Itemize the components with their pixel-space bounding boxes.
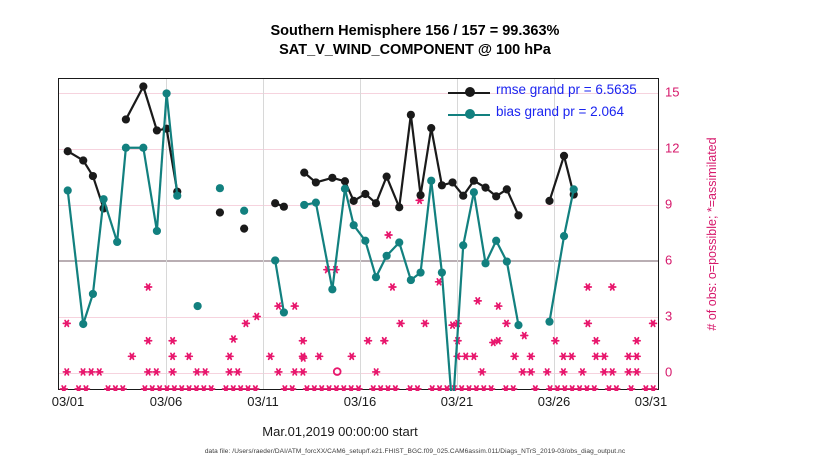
obs-assimilated-marker bbox=[291, 369, 298, 375]
obs-assimilated-marker bbox=[527, 353, 534, 359]
obs-assimilated-marker bbox=[569, 386, 576, 391]
obs-assimilated-marker bbox=[348, 353, 355, 359]
legend-item-rmse[interactable]: rmse grand pr = 6.5635 bbox=[448, 82, 653, 104]
obs-assimilated-marker bbox=[422, 320, 429, 326]
obs-assimilated-marker bbox=[202, 369, 209, 375]
obs-assimilated-marker bbox=[252, 386, 259, 391]
obs-assimilated-marker bbox=[178, 386, 185, 391]
obs-assimilated-marker bbox=[625, 353, 632, 359]
obs-assimilated-marker bbox=[186, 386, 193, 391]
obs-assimilated-marker bbox=[576, 386, 583, 391]
obs-assimilated-marker bbox=[521, 333, 528, 339]
obs-assimilated-marker bbox=[145, 338, 152, 344]
page-title: Southern Hemisphere 156 / 157 = 99.363% … bbox=[0, 22, 830, 60]
obs-assimilated-marker bbox=[348, 386, 355, 391]
obs-assimilated-marker bbox=[169, 338, 176, 344]
legend-label-bias: bias grand pr = 2.064 bbox=[496, 104, 624, 119]
obs-assimilated-marker bbox=[444, 386, 451, 391]
obs-assimilated-marker bbox=[316, 353, 323, 359]
obs-assimilated-marker bbox=[560, 353, 567, 359]
legend-marker-rmse bbox=[465, 87, 475, 97]
obs-assimilated-marker bbox=[609, 369, 616, 375]
x-tick-0311: 03/11 bbox=[247, 394, 279, 409]
obs-assimilated-marker bbox=[153, 369, 160, 375]
obs-assimilated-marker bbox=[281, 386, 288, 391]
obs-assimilated-marker bbox=[60, 386, 67, 391]
obs-assimilated-marker bbox=[128, 353, 135, 359]
legend-marker-bias bbox=[465, 109, 475, 119]
obs-assimilated-marker bbox=[223, 386, 230, 391]
series-bias bbox=[64, 89, 578, 391]
obs-assimilated-marker bbox=[613, 386, 620, 391]
x-tick-0331: 03/31 bbox=[635, 394, 668, 409]
obs-assimilated-marker bbox=[473, 386, 480, 391]
obs-assimilated-marker bbox=[436, 386, 443, 391]
obs-assimilated-marker bbox=[429, 386, 436, 391]
obs-assimilated-marker bbox=[275, 303, 282, 309]
obs-assimilated-marker bbox=[299, 338, 306, 344]
obs-assimilated-marker bbox=[145, 369, 152, 375]
obs-assimilated-marker bbox=[650, 386, 657, 391]
obs-assimilated-marker bbox=[579, 369, 586, 375]
obs-assimilated-marker bbox=[527, 369, 534, 375]
y-tick-right-15: 15 bbox=[665, 85, 679, 100]
obs-assimilated-marker bbox=[633, 369, 640, 375]
obs-assimilated-marker bbox=[466, 386, 473, 391]
obs-assimilated-marker bbox=[304, 386, 311, 391]
obs-assimilated-marker bbox=[80, 369, 87, 375]
title-line-1: Southern Hemisphere 156 / 157 = 99.363% bbox=[271, 23, 560, 39]
obs-assimilated-marker bbox=[63, 320, 70, 326]
obs-assimilated-marker bbox=[193, 386, 200, 391]
obs-assimilated-marker bbox=[234, 369, 241, 375]
legend-label-rmse: rmse grand pr = 6.5635 bbox=[496, 82, 637, 97]
obs-assimilated-marker bbox=[75, 386, 82, 391]
obs-assimilated-marker bbox=[200, 386, 207, 391]
obs-assimilated-marker bbox=[164, 386, 171, 391]
obs-assimilated-marker bbox=[480, 386, 487, 391]
obs-assimilated-marker bbox=[584, 386, 591, 391]
obs-assimilated-marker bbox=[547, 386, 554, 391]
obs-assimilated-marker bbox=[633, 338, 640, 344]
obs-assimilated-marker bbox=[479, 369, 486, 375]
obs-assimilated-marker bbox=[519, 369, 526, 375]
obs-assimilated-marker bbox=[407, 386, 414, 391]
x-tick-0321: 03/21 bbox=[441, 394, 474, 409]
obs-assimilated-marker bbox=[185, 353, 192, 359]
obs-assimilated-marker bbox=[633, 353, 640, 359]
obs-assimilated-marker bbox=[414, 386, 421, 391]
y-tick-right-9: 9 bbox=[665, 197, 672, 212]
obs-assimilated-marker bbox=[385, 386, 392, 391]
obs-assimilated-marker bbox=[291, 303, 298, 309]
obs-assimilated-marker bbox=[318, 386, 325, 391]
obs-assimilated-marker bbox=[194, 369, 201, 375]
obs-assimilated-marker bbox=[560, 369, 567, 375]
obs-assimilated-marker bbox=[105, 386, 112, 391]
obs-assimilated-marker bbox=[245, 386, 252, 391]
obs-assimilated-marker bbox=[83, 386, 90, 391]
obs-assimilated-marker bbox=[385, 232, 392, 238]
obs-assimilated-marker bbox=[242, 320, 249, 326]
y-tick-right-6: 6 bbox=[665, 253, 672, 268]
obs-assimilated-marker bbox=[299, 369, 306, 375]
obs-assimilated-marker bbox=[544, 369, 551, 375]
y-tick-right-0: 0 bbox=[665, 365, 672, 380]
obs-assimilated-marker bbox=[226, 369, 233, 375]
y-tick-right-12: 12 bbox=[665, 141, 679, 156]
obs-assimilated-marker bbox=[88, 369, 95, 375]
obs-assimilated-marker bbox=[650, 320, 657, 326]
obs-assimilated-marker bbox=[119, 386, 126, 391]
obs-assimilated-marker bbox=[552, 338, 559, 344]
data-file-footer: data file: /Users/raeder/DAI/ATM_forcXX/… bbox=[0, 448, 830, 455]
obs-assimilated-marker bbox=[532, 386, 539, 391]
obs-assimilated-marker bbox=[149, 386, 156, 391]
obs-assimilated-marker bbox=[340, 386, 347, 391]
obs-assimilated-marker bbox=[355, 386, 362, 391]
obs-assimilated-marker bbox=[377, 386, 384, 391]
obs-assimilated-marker bbox=[554, 386, 561, 391]
obs-assimilated-marker bbox=[326, 386, 333, 391]
x-axis-label: Mar.01,2019 00:00:00 start bbox=[0, 424, 680, 439]
obs-assimilated-marker bbox=[96, 369, 103, 375]
x-tick-0306: 03/06 bbox=[150, 394, 183, 409]
obs-assimilated-marker bbox=[503, 320, 510, 326]
obs-assimilated-marker bbox=[333, 386, 340, 391]
obs-assimilated-marker bbox=[625, 369, 632, 375]
obs-assimilated-marker bbox=[253, 314, 260, 320]
y-tick-right-3: 3 bbox=[665, 309, 672, 324]
obs-assimilated-marker bbox=[237, 386, 244, 391]
obs-assimilated-marker bbox=[373, 369, 380, 375]
obs-assimilated-marker bbox=[169, 369, 176, 375]
obs-assimilated-marker bbox=[474, 298, 481, 304]
obs-assimilated-marker bbox=[289, 386, 296, 391]
obs-assimilated-marker bbox=[510, 386, 517, 391]
obs-assimilated-marker bbox=[606, 386, 613, 391]
obs-assimilated-marker bbox=[311, 386, 318, 391]
obs-possible-marker bbox=[334, 368, 341, 375]
x-tick-0316: 03/16 bbox=[344, 394, 377, 409]
obs-assimilated-marker bbox=[584, 320, 591, 326]
obs-assimilated-marker bbox=[230, 336, 237, 342]
obs-assimilated-marker bbox=[495, 303, 502, 309]
title-line-2: SAT_V_WIND_COMPONENT @ 100 hPa bbox=[0, 41, 830, 60]
obs-assimilated-marker bbox=[226, 353, 233, 359]
obs-assimilated-marker bbox=[568, 353, 575, 359]
obs-assimilated-marker bbox=[561, 386, 568, 391]
obs-assimilated-marker bbox=[601, 353, 608, 359]
obs-assimilated-marker bbox=[208, 386, 215, 391]
obs-assimilated-marker bbox=[593, 338, 600, 344]
y-axis-label-right: # of obs: o=possible; *=assimilated bbox=[705, 137, 719, 330]
x-tick-0301: 03/01 bbox=[52, 394, 85, 409]
obs-assimilated-marker bbox=[511, 353, 518, 359]
obs-assimilated-marker bbox=[628, 386, 635, 391]
obs-assimilated-marker bbox=[642, 386, 649, 391]
obs-assimilated-marker bbox=[392, 386, 399, 391]
obs-assimilated-marker bbox=[502, 386, 509, 391]
obs-assimilated-marker bbox=[593, 353, 600, 359]
obs-assimilated-marker bbox=[63, 369, 70, 375]
obs-assimilated-marker bbox=[470, 353, 477, 359]
obs-assimilated-marker bbox=[145, 284, 152, 290]
obs-assimilated-marker bbox=[591, 386, 598, 391]
x-tick-0326: 03/26 bbox=[538, 394, 571, 409]
obs-assimilated-marker bbox=[488, 386, 495, 391]
obs-assimilated-marker bbox=[112, 386, 119, 391]
obs-assimilated-marker bbox=[370, 386, 377, 391]
obs-assimilated-marker bbox=[458, 386, 465, 391]
obs-assimilated-marker bbox=[609, 284, 616, 290]
obs-assimilated-marker bbox=[462, 353, 469, 359]
obs-assimilated-marker bbox=[267, 353, 274, 359]
obs-assimilated-marker bbox=[601, 369, 608, 375]
obs-assimilated-marker bbox=[171, 386, 178, 391]
legend-item-bias[interactable]: bias grand pr = 2.064 bbox=[448, 104, 653, 126]
obs-assimilated-marker bbox=[141, 386, 148, 391]
legend: rmse grand pr = 6.5635 bias grand pr = 2… bbox=[448, 82, 653, 126]
obs-assimilated-marker bbox=[156, 386, 163, 391]
obs-assimilated-marker bbox=[275, 369, 282, 375]
obs-assimilated-marker bbox=[365, 338, 372, 344]
obs-assimilated-marker bbox=[584, 284, 591, 290]
obs-assimilated-marker bbox=[389, 284, 396, 290]
obs-assimilated-marker bbox=[397, 320, 404, 326]
obs-assimilated-marker bbox=[381, 338, 388, 344]
obs-assimilated-marker bbox=[169, 353, 176, 359]
obs-assimilated-marker bbox=[230, 386, 237, 391]
